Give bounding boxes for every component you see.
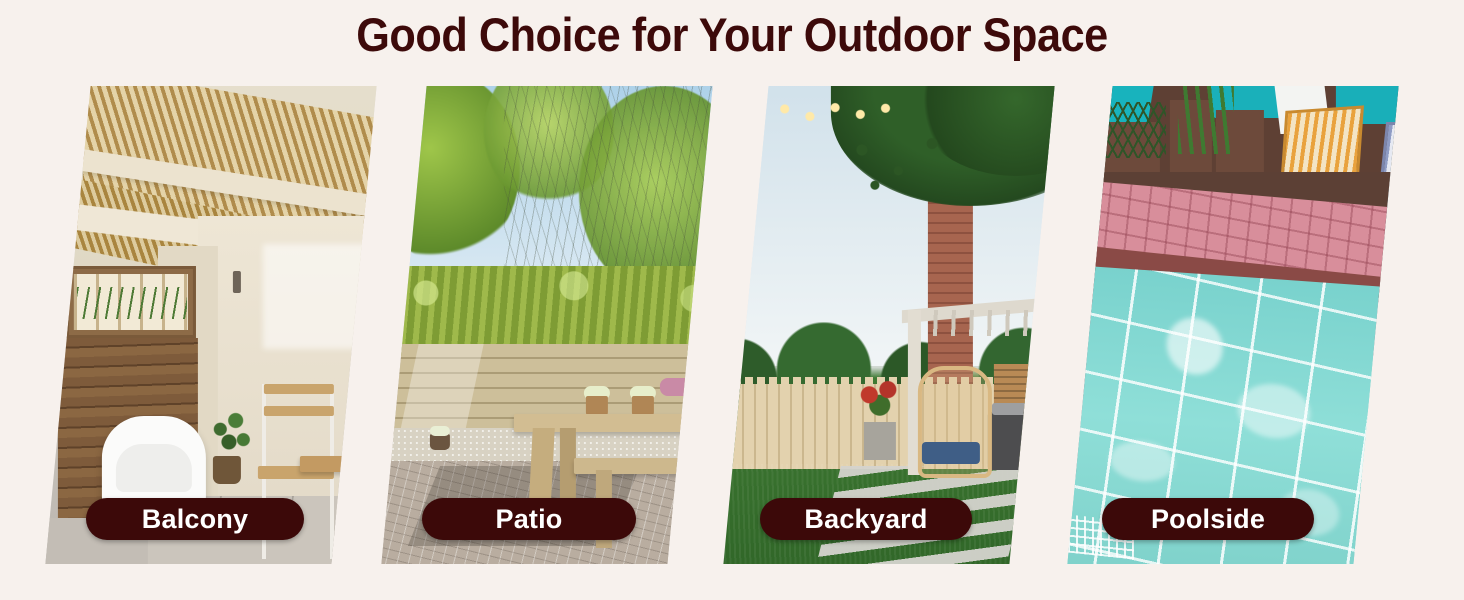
lattice-screen — [66, 266, 196, 338]
white-armchair — [102, 416, 206, 511]
flowers-three — [660, 378, 694, 396]
panel-backyard-image — [723, 86, 1054, 564]
panel-poolside-image — [1067, 86, 1398, 564]
panel-patio-image — [381, 86, 712, 564]
planter-three — [694, 394, 713, 420]
string-lights — [723, 94, 899, 128]
label-balcony[interactable]: Balcony — [86, 498, 304, 540]
balcony-scene — [45, 86, 376, 564]
label-backyard[interactable]: Backyard — [760, 498, 972, 540]
scattered-leaves — [836, 126, 966, 206]
red-flowers — [852, 374, 910, 426]
label-patio[interactable]: Patio — [422, 498, 636, 540]
panel-balcony[interactable] — [45, 86, 376, 564]
label-poolside[interactable]: Poolside — [1102, 498, 1314, 540]
ornamental-grass — [1096, 102, 1166, 158]
folding-chair-slat-mid — [264, 406, 334, 416]
pergola-post-right — [1052, 310, 1055, 460]
white-planter-bowl — [358, 448, 377, 472]
folding-chair-slat-top — [264, 384, 334, 394]
snake-plant — [1178, 86, 1234, 154]
plant-pot — [213, 456, 241, 484]
wall-lamp — [233, 271, 241, 293]
poolside-scene — [1067, 86, 1398, 564]
panel-balcony-image — [45, 86, 376, 564]
bistro-table-legs — [312, 470, 377, 562]
sunlight-patch — [263, 244, 377, 349]
patio-scene — [381, 86, 712, 564]
panel-patio[interactable] — [381, 86, 712, 564]
bare-branches — [504, 86, 713, 266]
outdoor-space-banner: Good Choice for Your Outdoor Space — [0, 0, 1464, 600]
picnic-bench-top — [574, 458, 713, 474]
swing-cushion — [922, 442, 980, 464]
hedge — [381, 266, 712, 356]
panel-backyard[interactable] — [723, 86, 1054, 564]
table-plant — [348, 404, 377, 454]
backyard-scene — [723, 86, 1054, 564]
small-flower-pot — [430, 434, 450, 450]
panel-poolside[interactable] — [1067, 86, 1398, 564]
pergola-rafters — [916, 310, 1055, 336]
umbrella-one-white-panel — [1067, 86, 1096, 144]
concrete-planter — [864, 422, 896, 460]
page-title: Good Choice for Your Outdoor Space — [59, 8, 1406, 62]
